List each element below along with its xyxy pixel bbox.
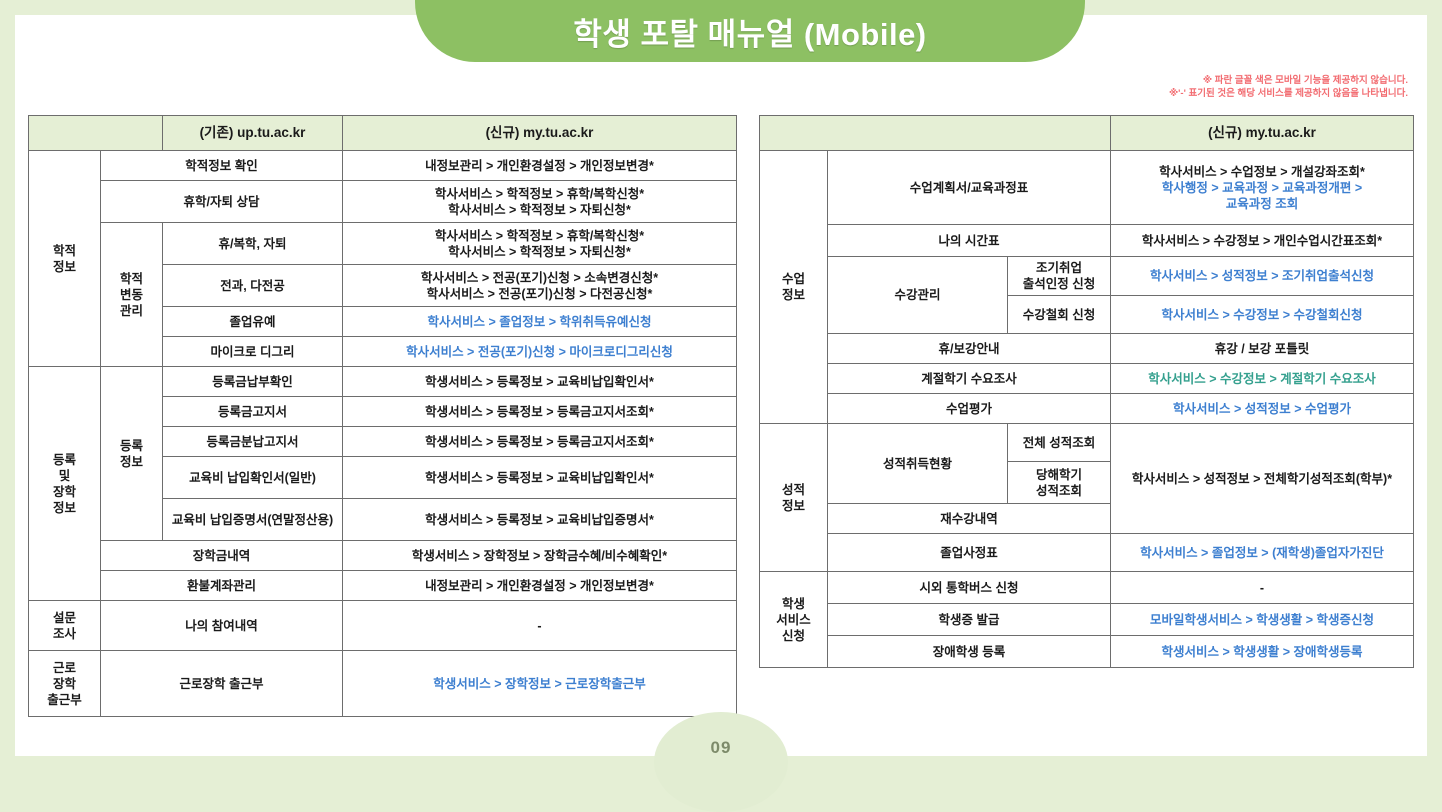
table-row: 근로장학출근부근로장학 출근부학생서비스 > 장학정보 > 근로장학출근부 bbox=[29, 651, 737, 717]
left-table-wrapper: (기존) up.tu.ac.kr (신규) my.tu.ac.kr 학적정보학적… bbox=[28, 115, 737, 717]
path-cell: 학사서비스 > 졸업정보 > 학위취득유예신청 bbox=[343, 307, 737, 337]
note-line-blue-font: ※ 파란 글꼴 색은 모바일 기능을 제공하지 않습니다. bbox=[1169, 74, 1408, 87]
subgroup-cell: 조기취업출석인정 신청 bbox=[1008, 257, 1111, 296]
table-row: 휴학/자퇴 상담학사서비스 > 학적정보 > 휴학/복학신청*학사서비스 > 학… bbox=[29, 181, 737, 223]
path-cell: 학사서비스 > 수강정보 > 계절학기 수요조사 bbox=[1111, 364, 1414, 394]
item-cell: 수강관리 bbox=[828, 257, 1008, 334]
category-cell: 등록및장학정보 bbox=[29, 367, 101, 601]
table-row-header: (신규) my.tu.ac.kr bbox=[760, 116, 1414, 151]
path-cell: 학생서비스 > 장학정보 > 장학금수혜/비수혜확인* bbox=[343, 541, 737, 571]
category-cell: 성적정보 bbox=[760, 424, 828, 572]
page-number-text: 09 bbox=[711, 738, 732, 758]
table-row: 졸업사정표학사서비스 > 졸업정보 > (재학생)졸업자가진단 bbox=[760, 534, 1414, 572]
subgroup-cell: 학적변동관리 bbox=[101, 223, 163, 367]
item-cell: 성적취득현황 bbox=[828, 424, 1008, 504]
item-cell: 장애학생 등록 bbox=[828, 636, 1111, 668]
item-cell: 교육비 납입증명서(연말정산용) bbox=[163, 499, 343, 541]
table-row: 학적변동관리휴/복학, 자퇴학사서비스 > 학적정보 > 휴학/복학신청*학사서… bbox=[29, 223, 737, 265]
item-cell: 교육비 납입확인서(일반) bbox=[163, 457, 343, 499]
table-row: 학생서비스신청시외 통학버스 신청- bbox=[760, 572, 1414, 604]
item-cell: 학적정보 확인 bbox=[101, 151, 343, 181]
note-line-dash-mark: ※'-' 표기된 것은 해당 서비스를 제공하지 않음을 나타냅니다. bbox=[1169, 87, 1408, 100]
item-cell: 졸업유예 bbox=[163, 307, 343, 337]
table-row: 환불계좌관리내정보관리 > 개인환경설정 > 개인정보변경* bbox=[29, 571, 737, 601]
path-cell: 학사서비스 > 성적정보 > 전체학기성적조회(학부)* bbox=[1111, 424, 1414, 534]
path-cell: 휴강 / 보강 포틀릿 bbox=[1111, 334, 1414, 364]
item-cell: 마이크로 디그리 bbox=[163, 337, 343, 367]
header-legacy-left: (기존) up.tu.ac.kr bbox=[163, 116, 343, 151]
path-cell: 학사서비스 > 수강정보 > 수강철회신청 bbox=[1111, 296, 1414, 334]
path-cell: - bbox=[343, 601, 737, 651]
path-cell: 학생서비스 > 장학정보 > 근로장학출근부 bbox=[343, 651, 737, 717]
table-row: 성적정보성적취득현황전체 성적조회학사서비스 > 성적정보 > 전체학기성적조회… bbox=[760, 424, 1414, 462]
table-row: 장학금내역학생서비스 > 장학정보 > 장학금수혜/비수혜확인* bbox=[29, 541, 737, 571]
legend-notes: ※ 파란 글꼴 색은 모바일 기능을 제공하지 않습니다. ※'-' 표기된 것… bbox=[1169, 74, 1408, 100]
subgroup-cell: 수강철회 신청 bbox=[1008, 296, 1111, 334]
path-cell: 학사서비스 > 수업정보 > 개설강좌조회*학사행정 > 교육과정 > 교육과정… bbox=[1111, 151, 1414, 225]
subgroup-cell: 전체 성적조회 bbox=[1008, 424, 1111, 462]
item-cell: 휴/보강안내 bbox=[828, 334, 1111, 364]
path-cell: 모바일학생서비스 > 학생생활 > 학생증신청 bbox=[1111, 604, 1414, 636]
header-new-left: (신규) my.tu.ac.kr bbox=[343, 116, 737, 151]
right-table-wrapper: (신규) my.tu.ac.kr 수업정보수업계획서/교육과정표학사서비스 > … bbox=[759, 115, 1414, 717]
item-cell: 졸업사정표 bbox=[828, 534, 1111, 572]
item-cell: 학생증 발급 bbox=[828, 604, 1111, 636]
table-row: 수강관리조기취업출석인정 신청학사서비스 > 성적정보 > 조기취업출석신청 bbox=[760, 257, 1414, 296]
table-row: 등록및장학정보등록정보등록금납부확인학생서비스 > 등록정보 > 교육비납입확인… bbox=[29, 367, 737, 397]
path-cell: 학생서비스 > 등록정보 > 교육비납입증명서* bbox=[343, 499, 737, 541]
category-cell: 설문조사 bbox=[29, 601, 101, 651]
path-cell: 학사서비스 > 성적정보 > 조기취업출석신청 bbox=[1111, 257, 1414, 296]
path-cell: - bbox=[1111, 572, 1414, 604]
table-row: 수업정보수업계획서/교육과정표학사서비스 > 수업정보 > 개설강좌조회*학사행… bbox=[760, 151, 1414, 225]
item-cell: 장학금내역 bbox=[101, 541, 343, 571]
path-cell: 학생서비스 > 학생생활 > 장애학생등록 bbox=[1111, 636, 1414, 668]
item-cell: 재수강내역 bbox=[828, 504, 1111, 534]
table-row: 학생증 발급모바일학생서비스 > 학생생활 > 학생증신청 bbox=[760, 604, 1414, 636]
item-cell: 나의 시간표 bbox=[828, 225, 1111, 257]
path-cell: 학사서비스 > 학적정보 > 휴학/복학신청*학사서비스 > 학적정보 > 자퇴… bbox=[343, 181, 737, 223]
category-cell: 근로장학출근부 bbox=[29, 651, 101, 717]
category-cell: 학적정보 bbox=[29, 151, 101, 367]
table-row: 수업평가학사서비스 > 성적정보 > 수업평가 bbox=[760, 394, 1414, 424]
header-blank-right bbox=[760, 116, 1111, 151]
table-row-header: (기존) up.tu.ac.kr (신규) my.tu.ac.kr bbox=[29, 116, 737, 151]
table-left: (기존) up.tu.ac.kr (신규) my.tu.ac.kr 학적정보학적… bbox=[28, 115, 737, 717]
item-cell: 수업계획서/교육과정표 bbox=[828, 151, 1111, 225]
header-new-right: (신규) my.tu.ac.kr bbox=[1111, 116, 1414, 151]
path-cell: 내정보관리 > 개인환경설정 > 개인정보변경* bbox=[343, 571, 737, 601]
title-banner: 학생 포탈 매뉴얼 (Mobile) bbox=[415, 0, 1085, 62]
item-cell: 등록금분납고지서 bbox=[163, 427, 343, 457]
tables-container: (기존) up.tu.ac.kr (신규) my.tu.ac.kr 학적정보학적… bbox=[0, 115, 1442, 717]
table-row: 나의 시간표학사서비스 > 수강정보 > 개인수업시간표조회* bbox=[760, 225, 1414, 257]
item-cell: 등록금고지서 bbox=[163, 397, 343, 427]
table-row: 학적정보학적정보 확인내정보관리 > 개인환경설정 > 개인정보변경* bbox=[29, 151, 737, 181]
item-cell: 환불계좌관리 bbox=[101, 571, 343, 601]
path-cell: 학사서비스 > 전공(포기)신청 > 마이크로디그리신청 bbox=[343, 337, 737, 367]
item-cell: 휴학/자퇴 상담 bbox=[101, 181, 343, 223]
table-row: 설문조사나의 참여내역- bbox=[29, 601, 737, 651]
path-cell: 학생서비스 > 등록정보 > 등록금고지서조회* bbox=[343, 397, 737, 427]
page-number-bubble: 09 bbox=[654, 712, 788, 812]
item-cell: 수업평가 bbox=[828, 394, 1111, 424]
subgroup-cell: 등록정보 bbox=[101, 367, 163, 541]
item-cell: 휴/복학, 자퇴 bbox=[163, 223, 343, 265]
path-cell: 학생서비스 > 등록정보 > 교육비납입확인서* bbox=[343, 367, 737, 397]
path-cell: 학사서비스 > 전공(포기)신청 > 소속변경신청*학사서비스 > 전공(포기)… bbox=[343, 265, 737, 307]
page-title: 학생 포탈 매뉴얼 (Mobile) bbox=[573, 9, 926, 54]
item-cell: 등록금납부확인 bbox=[163, 367, 343, 397]
category-cell: 학생서비스신청 bbox=[760, 572, 828, 668]
header-blank-left bbox=[29, 116, 163, 151]
table-row: 계절학기 수요조사학사서비스 > 수강정보 > 계절학기 수요조사 bbox=[760, 364, 1414, 394]
table-row: 휴/보강안내휴강 / 보강 포틀릿 bbox=[760, 334, 1414, 364]
path-cell: 학사서비스 > 학적정보 > 휴학/복학신청*학사서비스 > 학적정보 > 자퇴… bbox=[343, 223, 737, 265]
path-cell: 학사서비스 > 졸업정보 > (재학생)졸업자가진단 bbox=[1111, 534, 1414, 572]
path-cell: 학사서비스 > 수강정보 > 개인수업시간표조회* bbox=[1111, 225, 1414, 257]
table-right: (신규) my.tu.ac.kr 수업정보수업계획서/교육과정표학사서비스 > … bbox=[759, 115, 1414, 668]
path-cell: 학생서비스 > 등록정보 > 교육비납입확인서* bbox=[343, 457, 737, 499]
category-cell: 수업정보 bbox=[760, 151, 828, 424]
path-cell: 내정보관리 > 개인환경설정 > 개인정보변경* bbox=[343, 151, 737, 181]
item-cell: 시외 통학버스 신청 bbox=[828, 572, 1111, 604]
path-cell: 학생서비스 > 등록정보 > 등록금고지서조회* bbox=[343, 427, 737, 457]
table-row: 장애학생 등록학생서비스 > 학생생활 > 장애학생등록 bbox=[760, 636, 1414, 668]
item-cell: 나의 참여내역 bbox=[101, 601, 343, 651]
item-cell: 근로장학 출근부 bbox=[101, 651, 343, 717]
subgroup-cell: 당해학기성적조회 bbox=[1008, 462, 1111, 504]
path-cell: 학사서비스 > 성적정보 > 수업평가 bbox=[1111, 394, 1414, 424]
item-cell: 전과, 다전공 bbox=[163, 265, 343, 307]
item-cell: 계절학기 수요조사 bbox=[828, 364, 1111, 394]
